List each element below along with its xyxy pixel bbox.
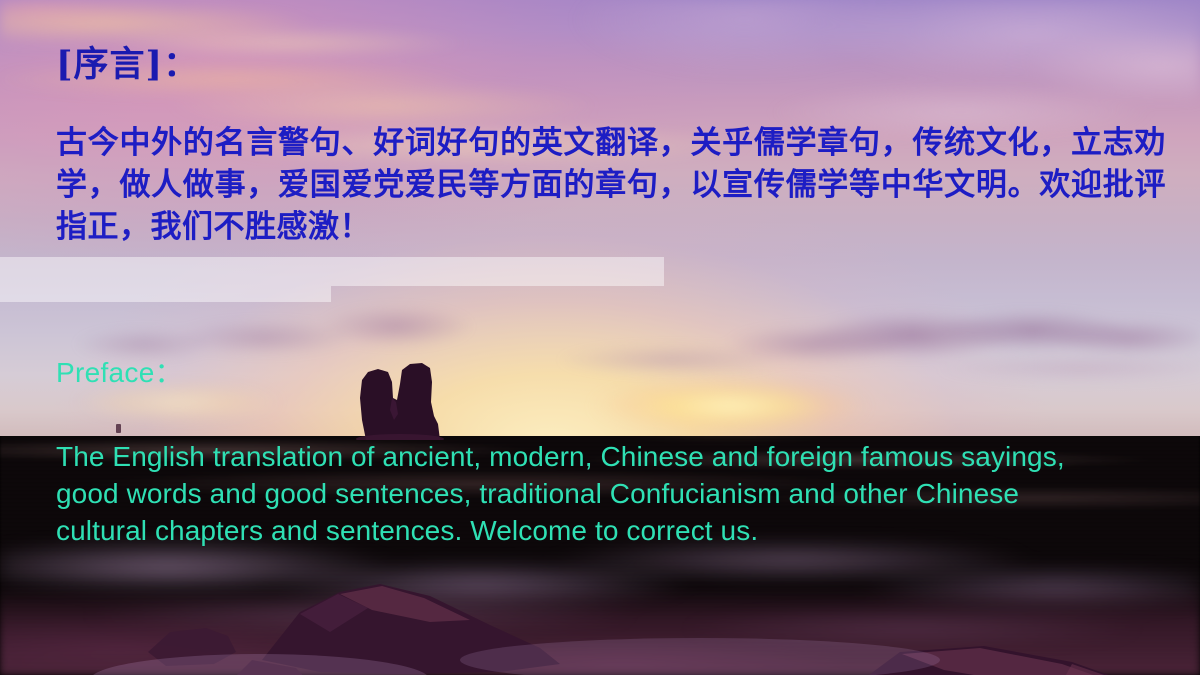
background-foreground-rocks [0,540,1200,675]
chinese-text-block: [序言]： 古今中外的名言警句、好词好句的英文翻译，关乎儒学章句，传统文化，立志… [56,44,1166,248]
presentation-slide: [序言]： 古今中外的名言警句、好词好句的英文翻译，关乎儒学章句，传统文化，立志… [0,0,1200,675]
english-text-block: Preface： The English translation of anci… [56,356,1126,549]
overlay-wash-band-right [331,257,664,286]
english-body-paragraph: The English translation of ancient, mode… [56,438,1076,550]
english-title: Preface： [56,356,1126,390]
overlay-wash-band-left [0,257,331,302]
chinese-title: [序言]： [56,44,1166,86]
chinese-body-paragraph: 古今中外的名言警句、好词好句的英文翻译，关乎儒学章句，传统文化，立志劝学，做人做… [56,122,1166,248]
